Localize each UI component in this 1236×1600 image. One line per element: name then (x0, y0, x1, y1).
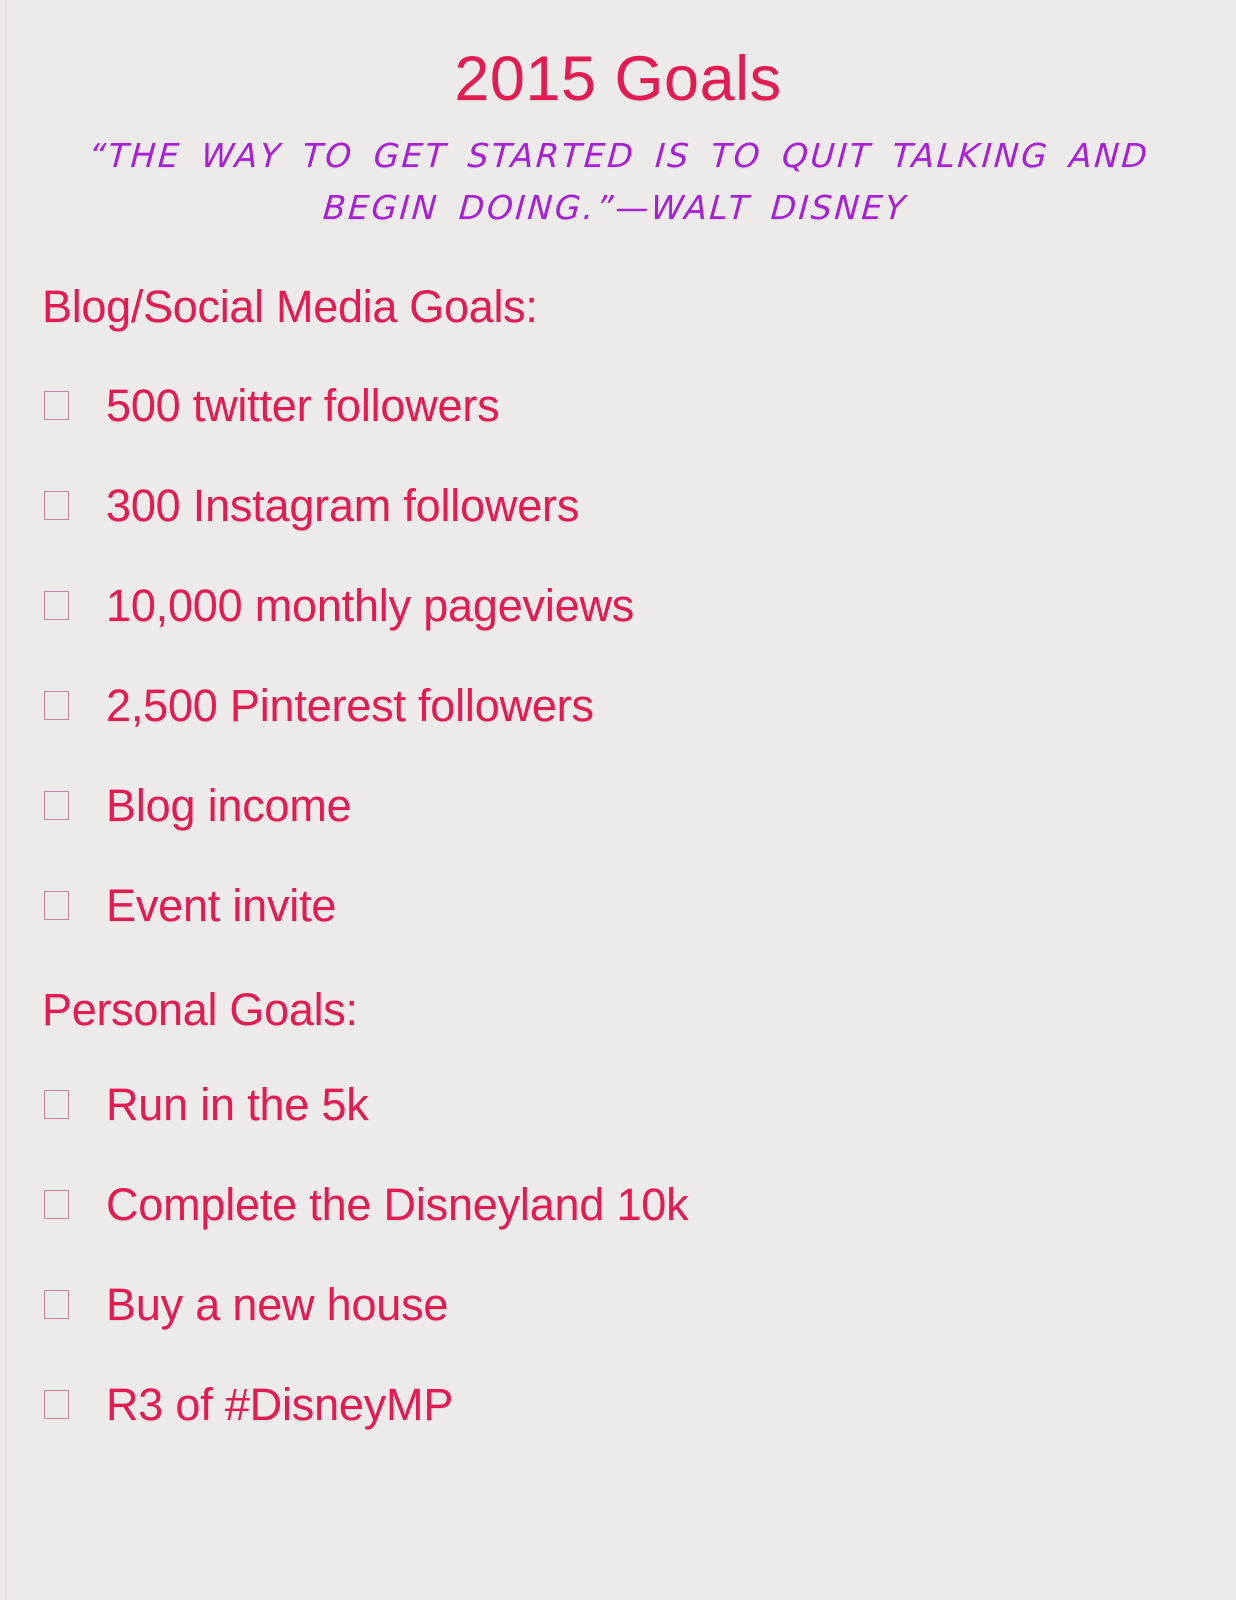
goal-item-label: 500 twitter followers (106, 383, 499, 428)
unchecked-checkbox-icon[interactable] (44, 491, 69, 520)
goal-item[interactable]: 10,000 monthly pageviews (0, 555, 1236, 655)
unchecked-checkbox-icon[interactable] (44, 891, 69, 920)
goal-item[interactable]: Event invite (0, 855, 1236, 955)
goal-item-label: Buy a new house (106, 1282, 448, 1327)
goal-item[interactable]: Complete the Disneyland 10k (0, 1154, 1236, 1254)
goal-list-personal: Run in the 5k Complete the Disneyland 10… (0, 1032, 1236, 1454)
unchecked-checkbox-icon[interactable] (44, 591, 69, 620)
goal-item-label: Blog income (106, 783, 351, 828)
unchecked-checkbox-icon[interactable] (44, 791, 69, 820)
unchecked-checkbox-icon[interactable] (44, 1290, 69, 1319)
goal-item[interactable]: 500 twitter followers (0, 355, 1236, 455)
unchecked-checkbox-icon[interactable] (44, 391, 69, 420)
unchecked-checkbox-icon[interactable] (44, 1090, 69, 1119)
page-title: 2015 Goals (0, 0, 1236, 111)
goal-item[interactable]: R3 of #DisneyMP (0, 1354, 1236, 1454)
goal-item-label: 300 Instagram followers (106, 483, 579, 528)
unchecked-checkbox-icon[interactable] (44, 1390, 69, 1419)
goal-item-label: Complete the Disneyland 10k (106, 1182, 688, 1227)
goal-item[interactable]: Blog income (0, 755, 1236, 855)
goal-item[interactable]: Buy a new house (0, 1254, 1236, 1354)
section-heading-blog-social-media: Blog/Social Media Goals: (0, 230, 1236, 329)
walt-disney-quote: “THE WAY TO GET STARTED IS TO QUIT TALKI… (0, 111, 1236, 230)
goal-item[interactable]: 2,500 Pinterest followers (0, 655, 1236, 755)
goals-page: 2015 Goals “THE WAY TO GET STARTED IS TO… (0, 0, 1236, 1600)
goal-item-label: Run in the 5k (106, 1082, 369, 1127)
goal-item[interactable]: 300 Instagram followers (0, 455, 1236, 555)
quote-line-1: “THE WAY TO GET STARTED IS TO QUIT TALKI… (21, 133, 1216, 179)
quote-line-2: BEGIN DOING.”—WALT DISNEY (18, 185, 1213, 231)
goal-item-label: 10,000 monthly pageviews (106, 583, 634, 628)
goal-item-label: 2,500 Pinterest followers (106, 683, 594, 728)
unchecked-checkbox-icon[interactable] (44, 1190, 69, 1219)
goal-item-label: R3 of #DisneyMP (106, 1382, 453, 1427)
goal-item-label: Event invite (106, 883, 336, 928)
unchecked-checkbox-icon[interactable] (44, 691, 69, 720)
goal-list-blog-social-media: 500 twitter followers 300 Instagram foll… (0, 329, 1236, 955)
section-heading-personal-goals: Personal Goals: (0, 955, 1236, 1032)
goal-item[interactable]: Run in the 5k (0, 1054, 1236, 1154)
